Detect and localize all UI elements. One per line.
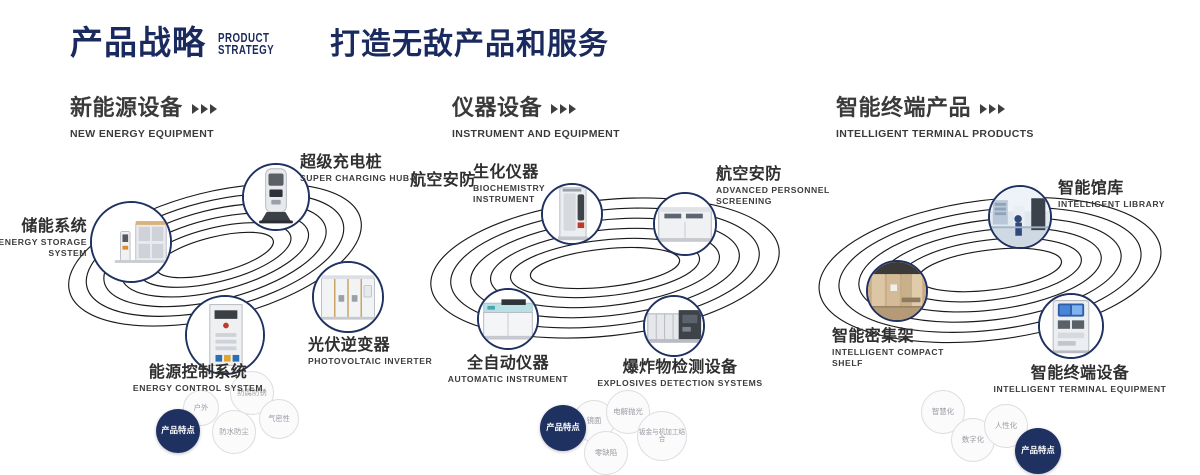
label-en: ENERGY STORAGE SYSTEM xyxy=(0,237,87,258)
label-biochemistry-instrument: 生化仪器 BIOCHEMISTRY INSTRUMENT xyxy=(473,164,583,204)
chevron-right-triple-icon xyxy=(980,104,1005,114)
node-advanced-personnel-screening[interactable] xyxy=(653,192,717,256)
screening-machine-icon xyxy=(655,194,715,254)
label-en: EXPLOSIVES DETECTION SYSTEMS xyxy=(580,378,780,389)
section-heading-cn: 智能终端产品 xyxy=(836,98,971,120)
feature-bubble: 零缺陷 xyxy=(584,431,628,475)
section-heading-en: NEW ENERGY EQUIPMENT xyxy=(70,128,217,140)
label-automatic-instrument: 全自动仪器 AUTOMATIC INSTRUMENT xyxy=(420,355,596,385)
label-en: BIOCHEMISTRY INSTRUMENT xyxy=(473,183,583,204)
page-title-en: PRODUCT STRATEGY xyxy=(218,32,274,58)
label-intelligent-terminal-equipment: 智能终端设备 INTELLIGENT TERMINAL EQUIPMENT xyxy=(970,365,1190,395)
product-strategy-infographic: 产品战略 PRODUCT STRATEGY 打造无敌产品和服务 新能源设备 NE… xyxy=(0,0,1200,422)
section-heading-intelligent-terminal: 智能终端产品 INTELLIGENT TERMINAL PRODUCTS xyxy=(836,98,1034,140)
chevron-right-triple-icon xyxy=(551,104,576,114)
page-subtitle: 打造无敌产品和服务 xyxy=(330,30,609,60)
label-cn: 生化仪器 xyxy=(473,164,583,181)
product-features-badge: 产品特点 xyxy=(156,409,200,453)
label-energy-control-system: 能源控制系统 ENERGY CONTROL SYSTEM xyxy=(83,364,313,394)
label-cn: 智能密集架 xyxy=(832,328,967,345)
section-heading-instrument: 仪器设备 INSTRUMENT AND EQUIPMENT xyxy=(452,98,620,140)
explosives-detection-icon xyxy=(645,297,703,355)
intelligent-library-photo-icon xyxy=(990,187,1050,247)
label-cn: 爆炸物检测设备 xyxy=(580,359,780,376)
section-heading-en: INTELLIGENT TERMINAL PRODUCTS xyxy=(836,128,1034,140)
label-cn: 全自动仪器 xyxy=(420,355,596,372)
label-en: AUTOMATIC INSTRUMENT xyxy=(420,374,596,385)
node-intelligent-library[interactable] xyxy=(988,185,1052,249)
section-heading-new-energy: 新能源设备 NEW ENERGY EQUIPMENT xyxy=(70,98,217,140)
product-features-badge: 产品特点 xyxy=(540,405,586,451)
feature-bubble: 防水防尘 xyxy=(212,410,256,454)
label-en: INTELLIGENT COMPACT SHELF xyxy=(832,347,967,368)
page-title-en-line2: STRATEGY xyxy=(218,44,274,57)
node-explosives-detection-systems[interactable] xyxy=(643,295,705,357)
chevron-right-triple-icon xyxy=(192,104,217,114)
label-explosives-detection-systems: 爆炸物检测设备 EXPLOSIVES DETECTION SYSTEMS xyxy=(580,359,780,389)
section-heading-en: INSTRUMENT AND EQUIPMENT xyxy=(452,128,620,140)
cluster-new-energy-equipment: 户外 防腐防锈 防水防尘 气密性 产品特点 储能系统 ENERGY STOR xyxy=(0,150,420,410)
label-en: INTELLIGENT TERMINAL EQUIPMENT xyxy=(970,384,1190,395)
automatic-analyzer-icon xyxy=(479,290,537,348)
cluster-intelligent-terminal-products: 智慧化 数字化 人性化 产品特点 智能馆库 INTELLIGENT xyxy=(790,150,1200,410)
energy-storage-cabinet-icon xyxy=(92,203,170,281)
photovoltaic-inverter-icon xyxy=(314,263,382,331)
self-service-terminal-icon xyxy=(1040,295,1102,357)
feature-bubble: 气密性 xyxy=(259,399,299,439)
label-cn: 储能系统 xyxy=(0,218,87,235)
feature-bubble: 钣金与机加工结合 xyxy=(637,411,687,461)
label-cn: 智能馆库 xyxy=(1058,180,1198,197)
compact-shelf-photo-icon xyxy=(868,262,926,320)
label-energy-storage-system: 储能系统 ENERGY STORAGE SYSTEM xyxy=(0,218,87,258)
node-photovoltaic-inverter[interactable] xyxy=(312,261,384,333)
label-intelligent-compact-shelf: 智能密集架 INTELLIGENT COMPACT SHELF xyxy=(832,328,967,368)
label-cn: 能源控制系统 xyxy=(83,364,313,381)
section-heading-cn: 新能源设备 xyxy=(70,98,183,120)
node-energy-storage-system[interactable] xyxy=(90,201,172,283)
cluster-instrument-and-equipment: 镜面 电解抛光 钣金与机加工结合 零缺陷 产品特点 航空安防 生化仪器 BIOC… xyxy=(400,150,820,410)
page-title: 产品战略 PRODUCT STRATEGY xyxy=(70,26,290,59)
label-cn: 智能终端设备 xyxy=(970,365,1190,382)
section-heading-cn: 仪器设备 xyxy=(452,98,542,120)
node-intelligent-compact-shelf[interactable] xyxy=(866,260,928,322)
label-en: ENERGY CONTROL SYSTEM xyxy=(83,383,313,394)
label-en: INTELLIGENT LIBRARY xyxy=(1058,199,1198,210)
node-automatic-instrument[interactable] xyxy=(477,288,539,350)
node-intelligent-terminal-equipment[interactable] xyxy=(1038,293,1104,359)
product-features-badge: 产品特点 xyxy=(1015,428,1061,474)
page-title-en-line1: PRODUCT xyxy=(218,32,274,45)
label-intelligent-library: 智能馆库 INTELLIGENT LIBRARY xyxy=(1058,180,1198,210)
page-title-cn: 产品战略 xyxy=(70,26,206,59)
ev-charging-pile-icon xyxy=(244,165,308,229)
